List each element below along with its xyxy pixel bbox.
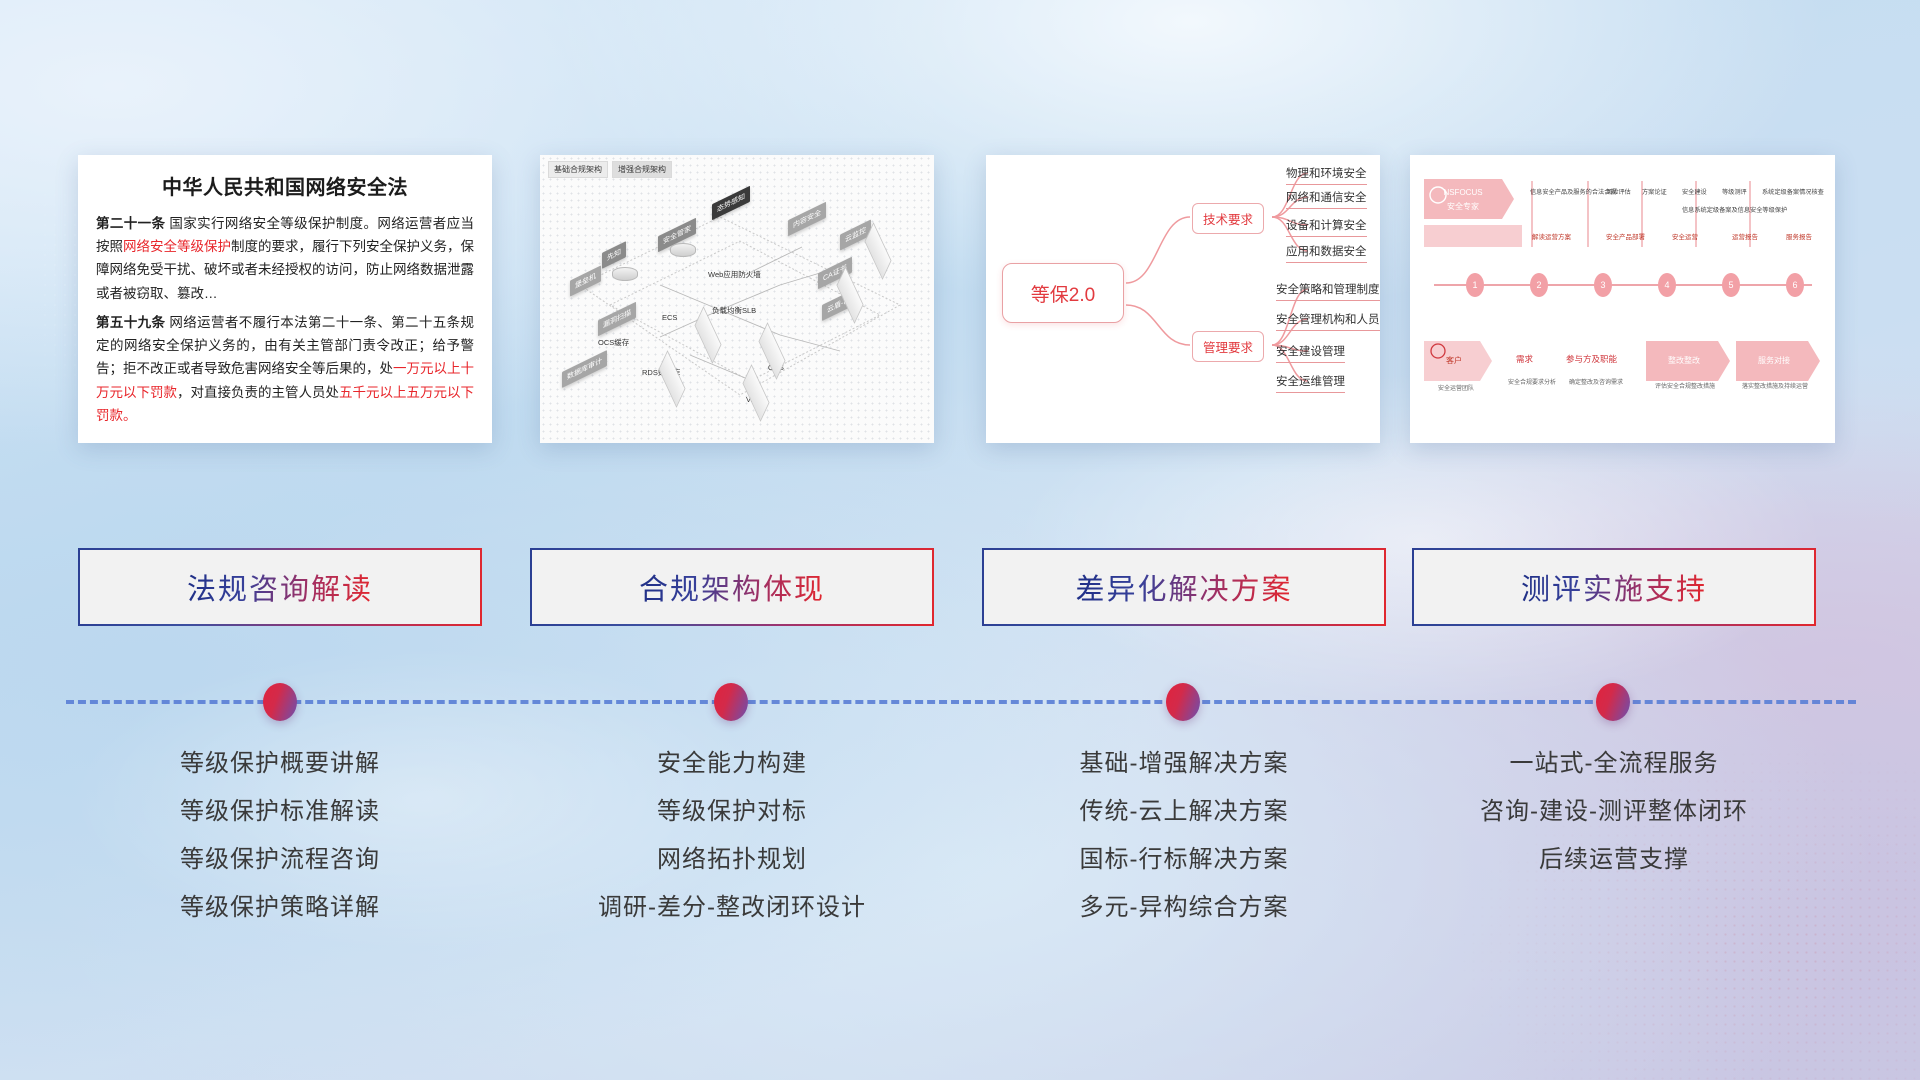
list-item: 等级保护标准解读	[78, 788, 482, 836]
pill-label: 测评实施支持	[1521, 566, 1707, 608]
list-assessment-support: 一站式-全流程服务 咨询-建设-测评整体闭环 后续运营支撑	[1412, 740, 1816, 884]
timeline-dot	[263, 683, 297, 721]
pill-label: 差异化解决方案	[1075, 566, 1292, 608]
pill-label: 合规架构体现	[639, 566, 825, 608]
list-compliance-architecture: 安全能力构建 等级保护对标 网络拓扑规划 调研-差分-整改闭环设计	[530, 740, 934, 932]
list-item: 后续运营支撑	[1412, 836, 1816, 884]
list-item: 咨询-建设-测评整体闭环	[1412, 788, 1816, 836]
pill-compliance-architecture[interactable]: 合规架构体现	[530, 548, 934, 626]
list-item: 等级保护概要讲解	[78, 740, 482, 788]
list-item: 等级保护对标	[530, 788, 934, 836]
timeline-dot	[1596, 683, 1630, 721]
pill-label: 法规咨询解读	[187, 566, 373, 608]
list-item: 国标-行标解决方案	[982, 836, 1386, 884]
list-item: 等级保护策略详解	[78, 884, 482, 932]
list-item: 网络拓扑规划	[530, 836, 934, 884]
list-item: 基础-增强解决方案	[982, 740, 1386, 788]
timeline-dot	[714, 683, 748, 721]
list-item: 一站式-全流程服务	[1412, 740, 1816, 788]
pill-assessment-support[interactable]: 测评实施支持	[1412, 548, 1816, 626]
pill-regulation-consulting[interactable]: 法规咨询解读	[78, 548, 482, 626]
list-item: 安全能力构建	[530, 740, 934, 788]
list-differentiated-solution: 基础-增强解决方案 传统-云上解决方案 国标-行标解决方案 多元-异构综合方案	[982, 740, 1386, 932]
timeline-dashed-line	[66, 700, 1856, 704]
list-item: 调研-差分-整改闭环设计	[530, 884, 934, 932]
pill-differentiated-solution[interactable]: 差异化解决方案	[982, 548, 1386, 626]
list-item: 多元-异构综合方案	[982, 884, 1386, 932]
slide-stage: 中华人民共和国网络安全法 第二十一条 国家实行网络安全等级保护制度。网络运营者应…	[0, 0, 1920, 1080]
list-item: 等级保护流程咨询	[78, 836, 482, 884]
list-item: 传统-云上解决方案	[982, 788, 1386, 836]
timeline	[66, 700, 1856, 704]
timeline-dot	[1166, 683, 1200, 721]
list-regulation-consulting: 等级保护概要讲解 等级保护标准解读 等级保护流程咨询 等级保护策略详解	[78, 740, 482, 932]
list-row: 等级保护概要讲解 等级保护标准解读 等级保护流程咨询 等级保护策略详解 安全能力…	[0, 740, 1920, 1020]
